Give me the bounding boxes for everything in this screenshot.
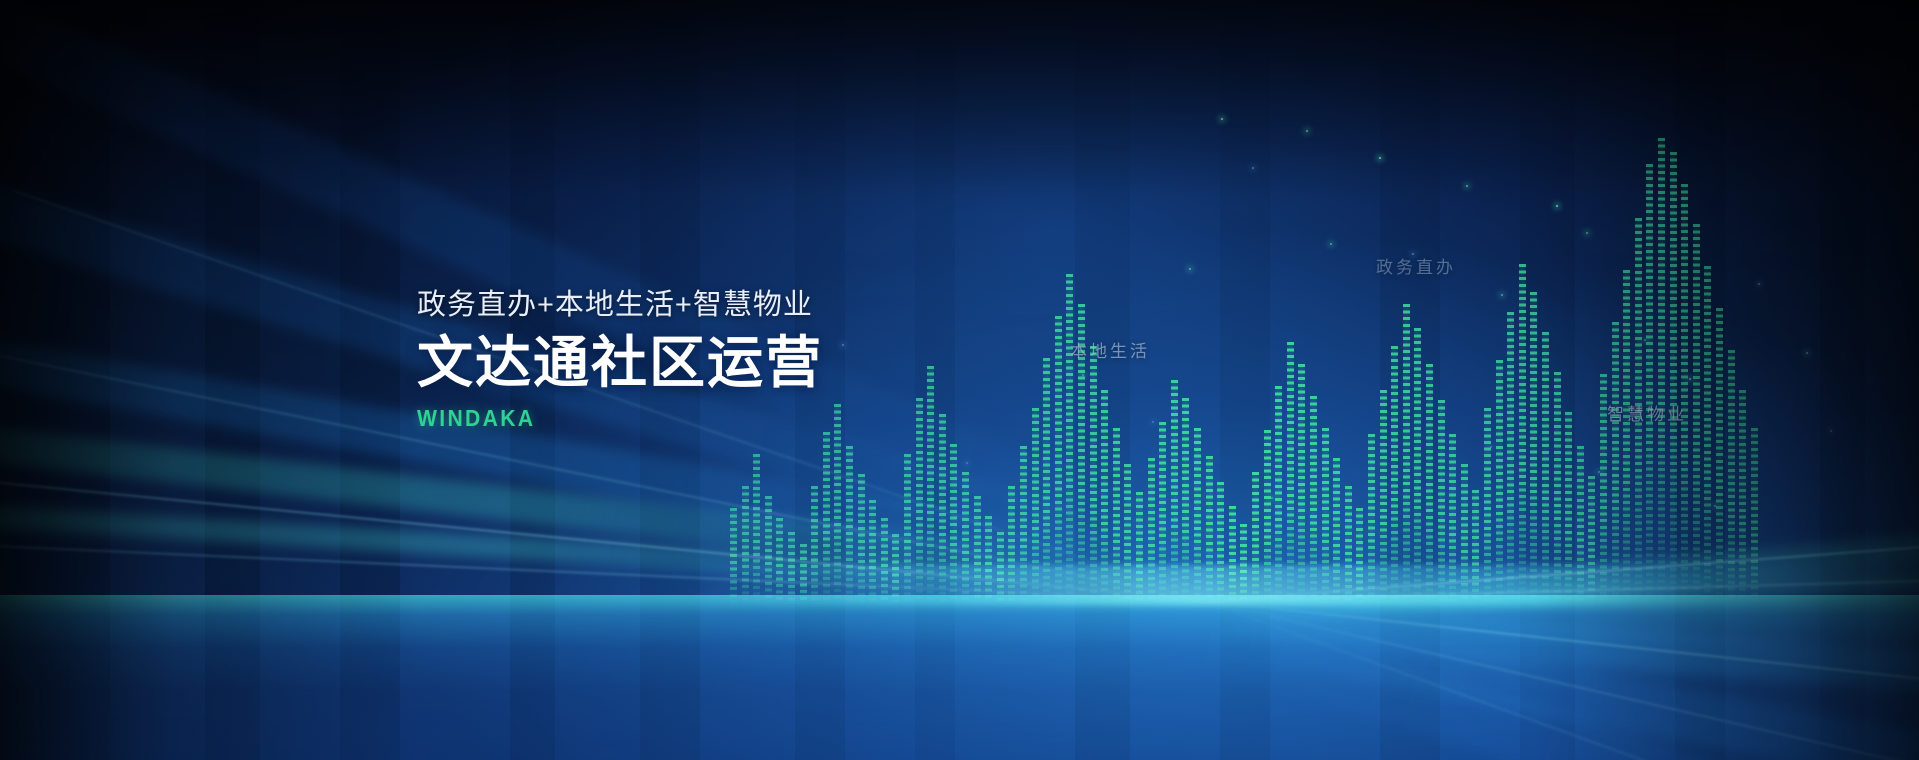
sparkle-icon	[1806, 352, 1808, 354]
sparkle-icon	[1556, 205, 1558, 207]
sparkle-icon	[1598, 471, 1600, 473]
sparkle-icon	[1189, 268, 1191, 270]
sparkle-icon	[1252, 167, 1254, 169]
brand-wordmark: WINDAKA	[417, 405, 791, 432]
sparkle-icon	[842, 344, 844, 346]
sparkle-icon	[1152, 421, 1154, 423]
sparkle-icon	[1306, 130, 1308, 132]
sparkle-icon	[1501, 294, 1503, 296]
sparkle-icon	[1714, 505, 1716, 507]
sparkle-icon	[1758, 283, 1760, 285]
sparkle-icon	[1490, 446, 1492, 448]
city-label: 本地生活	[1070, 337, 1150, 362]
sparkle-icon	[1082, 374, 1084, 376]
sparkle-icon	[1271, 497, 1273, 499]
page-title: 文达通社区运营	[417, 333, 823, 393]
sparkle-icon	[1379, 157, 1381, 159]
sparkle-icon	[1466, 185, 1468, 187]
sparkle-icon	[1644, 339, 1646, 341]
sparkle-icon	[1221, 118, 1223, 120]
sparkle-icon	[1330, 243, 1332, 245]
banner-stage: 政务直办本地生活智慧物业 政务直办+本地生活+智慧物业 文达通社区运营 WIND…	[0, 0, 1919, 760]
sparkle-icon	[1586, 232, 1588, 234]
city-label: 政务直办	[1376, 253, 1456, 278]
sparkle-icon	[1830, 430, 1832, 432]
tagline: 政务直办+本地生活+智慧物业	[417, 288, 823, 323]
sparkle-icon	[1689, 378, 1691, 380]
headline-block: 政务直办+本地生活+智慧物业 文达通社区运营 WINDAKA	[417, 288, 823, 432]
city-label: 智慧物业	[1607, 400, 1687, 425]
